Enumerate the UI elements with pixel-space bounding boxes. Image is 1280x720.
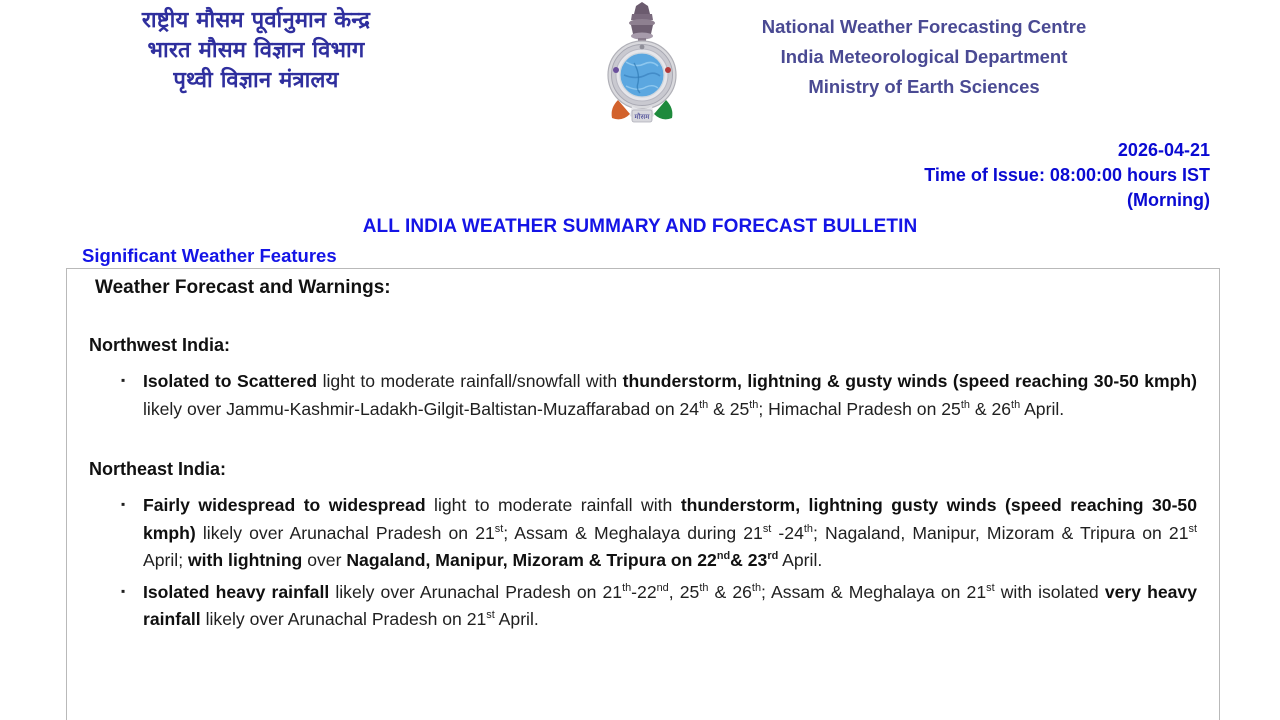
english-line-2: India Meteorological Department	[664, 42, 1184, 72]
body-text: likely over Arunachal Pradesh on 21	[329, 582, 622, 602]
page-title: ALL INDIA WEATHER SUMMARY AND FORECAST B…	[0, 216, 1280, 238]
weather-forecast-box: Weather Forecast and Warnings: Northwest…	[66, 268, 1220, 720]
english-organisation-title: National Weather Forecasting Centre Indi…	[664, 12, 1184, 102]
body-text: likely over Jammu-Kashmir-Ladakh-Gilgit-…	[143, 399, 699, 419]
region-bullet-list: Fairly widespread to widespread light to…	[81, 492, 1205, 634]
region-bullet-list: Isolated to Scattered light to moderate …	[81, 368, 1205, 423]
svg-text:मौसम: मौसम	[635, 112, 651, 121]
ordinal-suffix: rd	[767, 550, 778, 562]
hindi-line-1: राष्ट्रीय मौसम पूर्वानुमान केन्द्र	[56, 6, 456, 36]
emphasis-text: thunderstorm, lightning & gusty winds (s…	[623, 371, 1197, 391]
region-heading: Northwest India:	[89, 335, 1205, 356]
body-text: over	[302, 550, 346, 570]
significant-weather-features-heading: Significant Weather Features	[82, 245, 337, 267]
body-text: , 25	[669, 582, 700, 602]
region-heading: Northeast India:	[89, 459, 1205, 480]
issue-time: Time of Issue: 08:00:00 hours IST	[924, 163, 1210, 188]
ordinal-suffix: th	[699, 399, 708, 411]
issue-session: (Morning)	[924, 188, 1210, 213]
document-header: राष्ट्रीय मौसम पूर्वानुमान केन्द्र भारत …	[0, 0, 1280, 128]
body-text: & 26	[970, 399, 1011, 419]
ordinal-suffix: nd	[717, 550, 730, 562]
regions-container: Northwest India:Isolated to Scattered li…	[81, 335, 1205, 634]
ordinal-suffix: th	[961, 399, 970, 411]
emphasis-text: Isolated to Scattered	[143, 371, 317, 391]
body-text: ; Nagaland, Manipur, Mizoram & Tripura o…	[813, 523, 1189, 543]
emphasis-text: with lightning	[188, 550, 302, 570]
body-text: April.	[778, 550, 822, 570]
ordinal-suffix: st	[986, 582, 994, 594]
body-text: light to moderate rainfall with	[426, 495, 681, 515]
body-text: ; Assam & Meghalaya during 21	[503, 523, 763, 543]
ordinal-suffix: st	[486, 609, 494, 621]
body-text: light to moderate rainfall/snowfall with	[317, 371, 623, 391]
ordinal-suffix: th	[622, 582, 631, 594]
forecast-bullet: Isolated heavy rainfall likely over Arun…	[143, 579, 1205, 634]
ordinal-suffix: th	[804, 523, 813, 535]
ordinal-suffix: th	[752, 582, 761, 594]
ordinal-suffix: nd	[657, 582, 669, 594]
ordinal-suffix: st	[1189, 523, 1197, 535]
hindi-organisation-title: राष्ट्रीय मौसम पूर्वानुमान केन्द्र भारत …	[56, 6, 456, 96]
emphasis-text: Isolated heavy rainfall	[143, 582, 329, 602]
body-text: & 25	[708, 399, 749, 419]
bulletin-page: राष्ट्रीय मौसम पूर्वानुमान केन्द्र भारत …	[0, 0, 1280, 720]
body-text: likely over Arunachal Pradesh on 21	[196, 523, 495, 543]
emphasis-text: & 23	[730, 550, 767, 570]
emphasis-text: Nagaland, Manipur, Mizoram & Tripura on …	[346, 550, 717, 570]
body-text: with isolated	[995, 582, 1105, 602]
issue-date: 2026-04-21	[924, 138, 1210, 163]
forecast-bullet: Isolated to Scattered light to moderate …	[143, 368, 1205, 423]
body-text: -22	[631, 582, 656, 602]
emphasis-text: Fairly widespread to widespread	[143, 495, 426, 515]
body-text: & 26	[708, 582, 752, 602]
english-line-1: National Weather Forecasting Centre	[664, 12, 1184, 42]
body-text: April.	[495, 609, 539, 629]
hindi-line-2: भारत मौसम विज्ञान विभाग	[56, 36, 456, 66]
body-text: ; Himachal Pradesh on 25	[758, 399, 960, 419]
body-text: April.	[1020, 399, 1064, 419]
body-text: April;	[143, 550, 188, 570]
issue-info: 2026-04-21 Time of Issue: 08:00:00 hours…	[924, 138, 1210, 213]
body-text: likely over Arunachal Pradesh on 21	[201, 609, 487, 629]
forecast-bullet: Fairly widespread to widespread light to…	[143, 492, 1205, 575]
hindi-line-3: पृथ्वी विज्ञान मंत्रालय	[56, 66, 456, 96]
body-text: ; Assam & Meghalaya on 21	[761, 582, 986, 602]
ordinal-suffix: st	[495, 523, 503, 535]
ordinal-suffix: th	[1011, 399, 1020, 411]
english-line-3: Ministry of Earth Sciences	[664, 72, 1184, 102]
weather-forecast-warnings-title: Weather Forecast and Warnings:	[95, 277, 1205, 299]
body-text: -24	[771, 523, 804, 543]
